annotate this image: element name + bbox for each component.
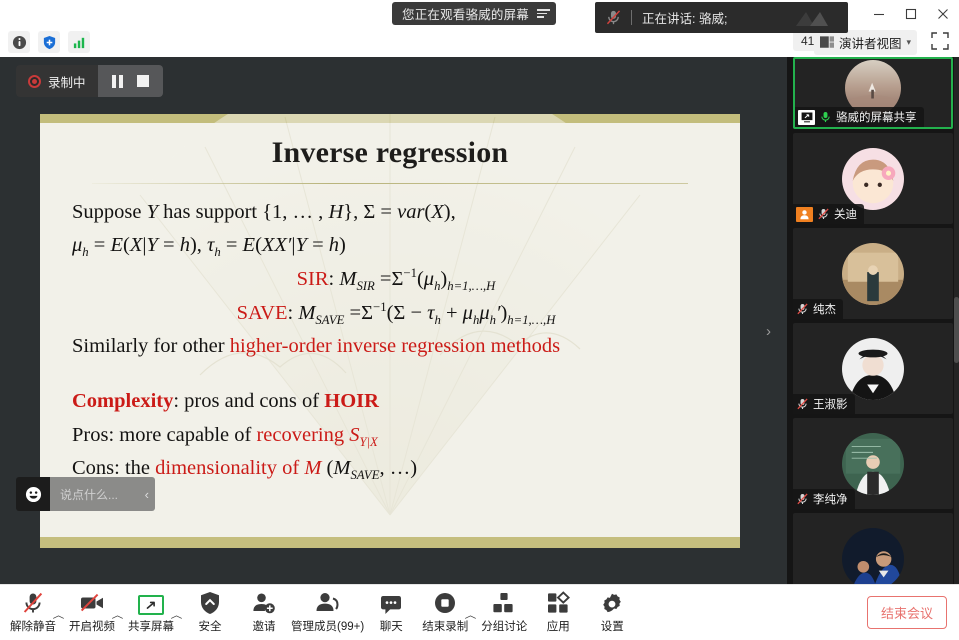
slide-title-rule bbox=[92, 183, 688, 184]
mic-muted-icon bbox=[21, 591, 45, 615]
participant-name: 李纯净 bbox=[813, 491, 848, 507]
app-logo-icon bbox=[786, 6, 842, 30]
slide-body: Suppose Y has support {1, … , H}, Σ = va… bbox=[72, 196, 720, 486]
chevron-down-icon: ▾ bbox=[906, 37, 911, 48]
participant-tile[interactable]: 李纯净 bbox=[793, 418, 953, 509]
participant-tile[interactable]: 王淑影 bbox=[793, 323, 953, 414]
info-icon[interactable] bbox=[8, 31, 30, 53]
banner-menu-icon[interactable] bbox=[537, 9, 550, 18]
toolbar-breakout-label: 分组讨论 bbox=[481, 618, 527, 634]
shared-screen-stage: 录制中 bbox=[0, 57, 787, 584]
screen-share-badge-icon bbox=[798, 110, 815, 125]
participant-tile[interactable]: 骆威的屏幕共享 bbox=[793, 57, 953, 129]
toolbar-unmute-label: 解除静音 bbox=[10, 618, 56, 634]
apps-grid-icon bbox=[546, 591, 570, 615]
emoji-smiley-icon[interactable] bbox=[16, 477, 50, 511]
host-badge-icon bbox=[796, 207, 813, 222]
viewing-screen-banner[interactable]: 您正在观看骆威的屏幕 bbox=[392, 2, 556, 25]
mic-muted-icon bbox=[796, 492, 809, 506]
toolbar-settings-label: 设置 bbox=[601, 618, 624, 634]
participant-tile[interactable] bbox=[793, 513, 953, 584]
toolbar-chat-button[interactable]: 聊天 bbox=[364, 587, 418, 639]
participant-name: 王淑影 bbox=[813, 396, 848, 412]
toolbar-items: 解除静音︿开启视频︿共享屏幕︿安全邀请管理成员(99+)聊天结束录制︿分组讨论应… bbox=[6, 587, 639, 639]
network-bars-icon[interactable] bbox=[68, 31, 90, 53]
zoom-meeting-window: 您正在观看骆威的屏幕 41:19 bbox=[0, 0, 959, 640]
avatar bbox=[842, 148, 904, 210]
avatar bbox=[842, 338, 904, 400]
gear-icon bbox=[600, 591, 624, 615]
slide-line-l5: Similarly for other higher-order inverse… bbox=[72, 330, 720, 363]
slide-line-l8: Cons: the dimensionality of M (MSAVE, …) bbox=[72, 452, 720, 486]
toolbar-start-video-label: 开启视频 bbox=[69, 618, 115, 634]
slide-line-l6: Complexity: pros and cons of HOIR bbox=[72, 385, 720, 418]
participant-name: 纯杰 bbox=[813, 301, 836, 317]
participant-tile[interactable]: 关迪 bbox=[793, 133, 953, 224]
toolbar-apps-label: 应用 bbox=[547, 618, 570, 634]
meeting-toolbar: 解除静音︿开启视频︿共享屏幕︿安全邀请管理成员(99+)聊天结束录制︿分组讨论应… bbox=[0, 584, 959, 640]
avatar bbox=[842, 433, 904, 495]
recording-controls: 录制中 bbox=[16, 65, 163, 97]
toolbar-apps-button[interactable]: 应用 bbox=[531, 587, 585, 639]
mic-muted-icon bbox=[796, 302, 809, 316]
mic-muted-icon bbox=[796, 397, 809, 411]
participant-tiles: 骆威的屏幕共享 关迪 纯杰 王淑影 李纯净 bbox=[787, 57, 959, 584]
toolbar-breakout-button[interactable]: 分组讨论 bbox=[477, 587, 531, 639]
toolbar-chat-label: 聊天 bbox=[380, 618, 403, 634]
toolbar-participants-label: 管理成员(99+) bbox=[291, 618, 364, 634]
recording-indicator: 录制中 bbox=[16, 65, 98, 97]
participant-label: 骆威的屏幕共享 bbox=[795, 107, 924, 127]
status-icon-group bbox=[8, 31, 90, 53]
stage-chat-overlay[interactable]: 说点什么... ‹ bbox=[16, 477, 155, 511]
recording-buttons bbox=[98, 65, 163, 97]
view-mode-label: 演讲者视图 bbox=[839, 33, 902, 52]
fullscreen-icon[interactable] bbox=[931, 32, 951, 52]
participant-filmstrip[interactable]: 骆威的屏幕共享 关迪 纯杰 王淑影 李纯净 bbox=[787, 57, 959, 584]
toolbar-invite-label: 邀请 bbox=[253, 618, 276, 634]
participant-label: 关迪 bbox=[793, 204, 864, 224]
participant-label: 纯杰 bbox=[793, 299, 843, 319]
record-dot-icon bbox=[28, 75, 41, 88]
slide-title: Inverse regression bbox=[40, 136, 740, 170]
toolbar-security-button[interactable]: 安全 bbox=[183, 587, 237, 639]
floating-speaking-window[interactable]: 正在讲话: 骆威; bbox=[595, 2, 848, 33]
share-screen-icon bbox=[138, 591, 164, 615]
maximize-icon[interactable] bbox=[895, 0, 927, 27]
chat-bubble-icon bbox=[379, 591, 403, 615]
breakout-rooms-icon bbox=[492, 591, 516, 615]
mic-muted-icon bbox=[817, 207, 830, 221]
toolbar-unmute-chevron-up-icon[interactable]: ︿ bbox=[53, 608, 65, 621]
viewing-screen-label: 您正在观看骆威的屏幕 bbox=[402, 4, 529, 23]
add-person-icon bbox=[252, 591, 276, 615]
minimize-icon[interactable] bbox=[863, 0, 895, 27]
toolbar-stop-record-chevron-up-icon[interactable]: ︿ bbox=[465, 608, 477, 621]
slide-top-band bbox=[40, 114, 740, 123]
stage-chat-input[interactable]: 说点什么... ‹ bbox=[50, 477, 155, 511]
toolbar-invite-button[interactable]: 邀请 bbox=[237, 587, 291, 639]
end-meeting-button[interactable]: 结束会议 bbox=[867, 596, 947, 629]
pause-icon[interactable] bbox=[112, 75, 123, 88]
stop-record-icon bbox=[433, 591, 457, 615]
filmstrip-scrollbar[interactable] bbox=[954, 297, 959, 363]
mic-unmuted-icon bbox=[819, 110, 832, 124]
toolbar-start-video-chevron-up-icon[interactable]: ︿ bbox=[112, 608, 124, 621]
avatar bbox=[842, 528, 904, 585]
toolbar-stop-record-label: 结束录制 bbox=[422, 618, 468, 634]
slide-line-l2: μh = E(X|Y = h), τh = E(XX′|Y = h) bbox=[72, 229, 720, 263]
close-icon[interactable] bbox=[927, 0, 959, 27]
toolbar-share-chevron-up-icon[interactable]: ︿ bbox=[171, 608, 183, 621]
participant-label: 王淑影 bbox=[793, 394, 855, 414]
slide-line-l1: Suppose Y has support {1, … , H}, Σ = va… bbox=[72, 196, 720, 229]
collapse-filmstrip-arrow[interactable]: › bbox=[766, 323, 771, 340]
video-off-icon bbox=[79, 591, 105, 615]
share-screen-active-frame bbox=[138, 595, 164, 615]
chevron-left-icon[interactable]: ‹ bbox=[145, 487, 149, 502]
slide-line-l3: SIR: MSIR =Σ−1(μh)h=1,…,H bbox=[72, 263, 720, 297]
slide-line-l4: SAVE: MSAVE =Σ−1(Σ − τh + μhμh′)h=1,…,H bbox=[72, 297, 720, 331]
avatar bbox=[842, 243, 904, 305]
participant-label: 李纯净 bbox=[793, 489, 855, 509]
participant-tile[interactable]: 纯杰 bbox=[793, 228, 953, 319]
shield-icon bbox=[199, 591, 221, 615]
toolbar-share-label: 共享屏幕 bbox=[128, 618, 174, 634]
speaking-status-label: 正在讲话: 骆威; bbox=[642, 8, 727, 27]
stop-icon[interactable] bbox=[137, 75, 149, 87]
slide-bottom-band bbox=[40, 537, 740, 548]
stage-chat-placeholder: 说点什么... bbox=[60, 486, 118, 503]
recording-label: 录制中 bbox=[48, 72, 86, 91]
speaker-view-icon bbox=[820, 36, 834, 49]
floating-divider bbox=[631, 10, 632, 25]
toolbar-participants-button[interactable]: 管理成员(99+) bbox=[291, 587, 364, 639]
view-mode-selector[interactable]: 演讲者视图 ▾ bbox=[814, 30, 917, 55]
toolbar-security-label: 安全 bbox=[199, 618, 222, 634]
mic-muted-icon[interactable] bbox=[595, 9, 631, 26]
toolbar-settings-button[interactable]: 设置 bbox=[585, 587, 639, 639]
participant-name: 骆威的屏幕共享 bbox=[836, 109, 917, 125]
shield-security-icon[interactable] bbox=[38, 31, 60, 53]
people-icon bbox=[315, 591, 341, 615]
slide-spacer bbox=[72, 363, 720, 385]
window-controls bbox=[863, 0, 959, 27]
slide-line-l7: Pros: more capable of recovering SY|X bbox=[72, 419, 720, 453]
participant-name: 关迪 bbox=[834, 206, 857, 222]
